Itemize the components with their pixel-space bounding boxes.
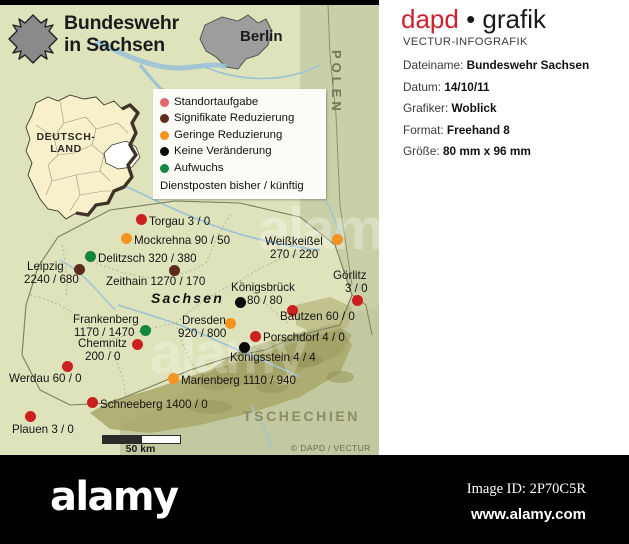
- dapd-grafik-logo: dapd • grafik: [401, 6, 546, 32]
- metadata-field-value: Woblick: [452, 101, 497, 115]
- city-label: 80 / 80: [247, 295, 282, 308]
- city-label: Plauen 3 / 0: [12, 424, 74, 437]
- map-copyright: © DAPD / VECTUR: [291, 443, 371, 453]
- metadata-panel: dapd • grafik VECTUR-INFOGRAFIK Dateinam…: [379, 0, 629, 455]
- city-label: Dresden: [182, 315, 226, 328]
- city-label: 200 / 0: [85, 351, 120, 364]
- metadata-field-3: Format: Freehand 8: [403, 123, 589, 137]
- metadata-field-list: Dateiname: Bundeswehr SachsenDatum: 14/1…: [403, 58, 589, 166]
- berlin-label: Berlin: [240, 28, 283, 45]
- legend-dot-icon: [160, 98, 169, 107]
- city-label: Marienberg 1110 / 940: [181, 375, 296, 388]
- legend-item-label: Standortaufgabe: [174, 97, 258, 108]
- germany-inset-label: DEUTSCH- LAND: [31, 131, 101, 156]
- city-label: Königsbrück: [231, 282, 295, 295]
- metadata-field-key: Dateiname:: [403, 58, 467, 72]
- city-marker-dot: [121, 233, 132, 244]
- alamy-logo: alamy: [50, 477, 177, 517]
- legend-rows: StandortaufgabeSignifikate ReduzierungGe…: [160, 94, 320, 177]
- alamy-url-link[interactable]: www.alamy.com: [471, 506, 586, 523]
- city-label: Zeithain 1270 / 170: [106, 276, 205, 289]
- city-marker-dot: [136, 214, 147, 225]
- metadata-field-value: 14/10/11: [444, 80, 489, 94]
- legend-footer: Dienstposten bisher / künftig: [160, 180, 320, 192]
- city-label: Königsstein 4 / 4: [230, 352, 316, 365]
- metadata-subtitle: VECTUR-INFOGRAFIK: [403, 36, 528, 48]
- metadata-field-value: Freehand 8: [447, 123, 510, 137]
- city-marker-dot: [132, 339, 143, 350]
- city-label: Porschdorf 4 / 0: [263, 332, 345, 345]
- metadata-field-key: Datum:: [403, 80, 444, 94]
- legend-dot-icon: [160, 147, 169, 156]
- city-label: Weißkeißel: [265, 236, 323, 249]
- city-marker-dot: [85, 251, 96, 262]
- germany-inset-line1: DEUTSCH-: [31, 131, 101, 143]
- city-marker-dot: [62, 361, 73, 372]
- metadata-field-key: Format:: [403, 123, 447, 137]
- city-label: Bautzen 60 / 0: [280, 311, 355, 324]
- city-marker-dot: [25, 411, 36, 422]
- legend-item-3: Keine Veränderung: [160, 144, 320, 161]
- saxony-label: Sachsen: [151, 290, 224, 306]
- alamy-footer-bar: alamy Image ID: 2P70C5R www.alamy.com: [0, 455, 629, 544]
- city-label: Chemnitz: [78, 338, 127, 351]
- city-label: Delitzsch 320 / 380: [98, 253, 197, 266]
- legend-item-1: Signifikate Reduzierung: [160, 111, 320, 128]
- city-marker-dot: [332, 234, 343, 245]
- map-title: Bundeswehr in Sachsen: [64, 12, 179, 56]
- legend-item-0: Standortaufgabe: [160, 94, 320, 111]
- city-label: Mockrehna 90 / 50: [134, 235, 230, 248]
- poland-label: POLEN: [329, 50, 344, 115]
- city-label: Leipzig: [27, 261, 64, 274]
- scale-bar-label: 50 km: [102, 443, 179, 455]
- legend-item-label: Geringe Reduzierung: [174, 130, 282, 141]
- city-marker-dot: [250, 331, 261, 342]
- metadata-field-1: Datum: 14/10/11: [403, 80, 589, 94]
- map-panel: alamy alamy Bundeswehr in Sachsen Berlin…: [0, 5, 379, 455]
- city-label: 3 / 0: [345, 283, 368, 296]
- metadata-field-2: Grafiker: Woblick: [403, 101, 589, 115]
- screenshot-root: alamy alamy Bundeswehr in Sachsen Berlin…: [0, 0, 629, 544]
- metadata-field-value: 80 mm x 96 mm: [443, 144, 531, 158]
- city-marker-dot: [225, 318, 236, 329]
- city-label: Görlitz: [333, 270, 367, 283]
- bundeswehr-iron-cross-icon: [7, 13, 59, 65]
- legend-item-label: Signifikate Reduzierung: [174, 113, 294, 124]
- metadata-field-value: Bundeswehr Sachsen: [467, 58, 590, 72]
- metadata-field-key: Größe:: [403, 144, 443, 158]
- legend-item-label: Keine Veränderung: [174, 146, 272, 157]
- germany-inset-line2: LAND: [31, 143, 101, 155]
- city-marker-dot: [235, 297, 246, 308]
- map-legend: StandortaufgabeSignifikate ReduzierungGe…: [153, 89, 326, 199]
- city-marker-dot: [168, 373, 179, 384]
- metadata-field-4: Größe: 80 mm x 96 mm: [403, 144, 589, 158]
- legend-dot-icon: [160, 164, 169, 173]
- legend-item-2: Geringe Reduzierung: [160, 127, 320, 144]
- city-label: 920 / 800: [178, 328, 226, 341]
- city-label: Werdau 60 / 0: [9, 373, 82, 386]
- legend-item-4: Aufwuchs: [160, 160, 320, 177]
- city-marker-dot: [87, 397, 98, 408]
- map-title-line2: in Sachsen: [64, 34, 179, 56]
- city-label: 270 / 220: [270, 249, 318, 262]
- city-label: Torgau 3 / 0: [149, 216, 210, 229]
- city-marker-dot: [352, 295, 363, 306]
- map-title-line1: Bundeswehr: [64, 12, 179, 34]
- metadata-field-key: Grafiker:: [403, 101, 452, 115]
- city-label: Schneeberg 1400 / 0: [100, 399, 208, 412]
- grafik-word: • grafik: [459, 4, 546, 34]
- legend-dot-icon: [160, 131, 169, 140]
- dapd-brand: dapd: [401, 4, 459, 34]
- metadata-field-0: Dateiname: Bundeswehr Sachsen: [403, 58, 589, 72]
- city-label: Frankenberg: [73, 314, 139, 327]
- legend-dot-icon: [160, 114, 169, 123]
- czech-republic-label: TSCHECHIEN: [243, 408, 360, 424]
- city-marker-dot: [140, 325, 151, 336]
- image-id-label: Image ID: 2P70C5R: [467, 481, 586, 498]
- city-label: 2240 / 680: [24, 274, 79, 287]
- legend-item-label: Aufwuchs: [174, 163, 223, 174]
